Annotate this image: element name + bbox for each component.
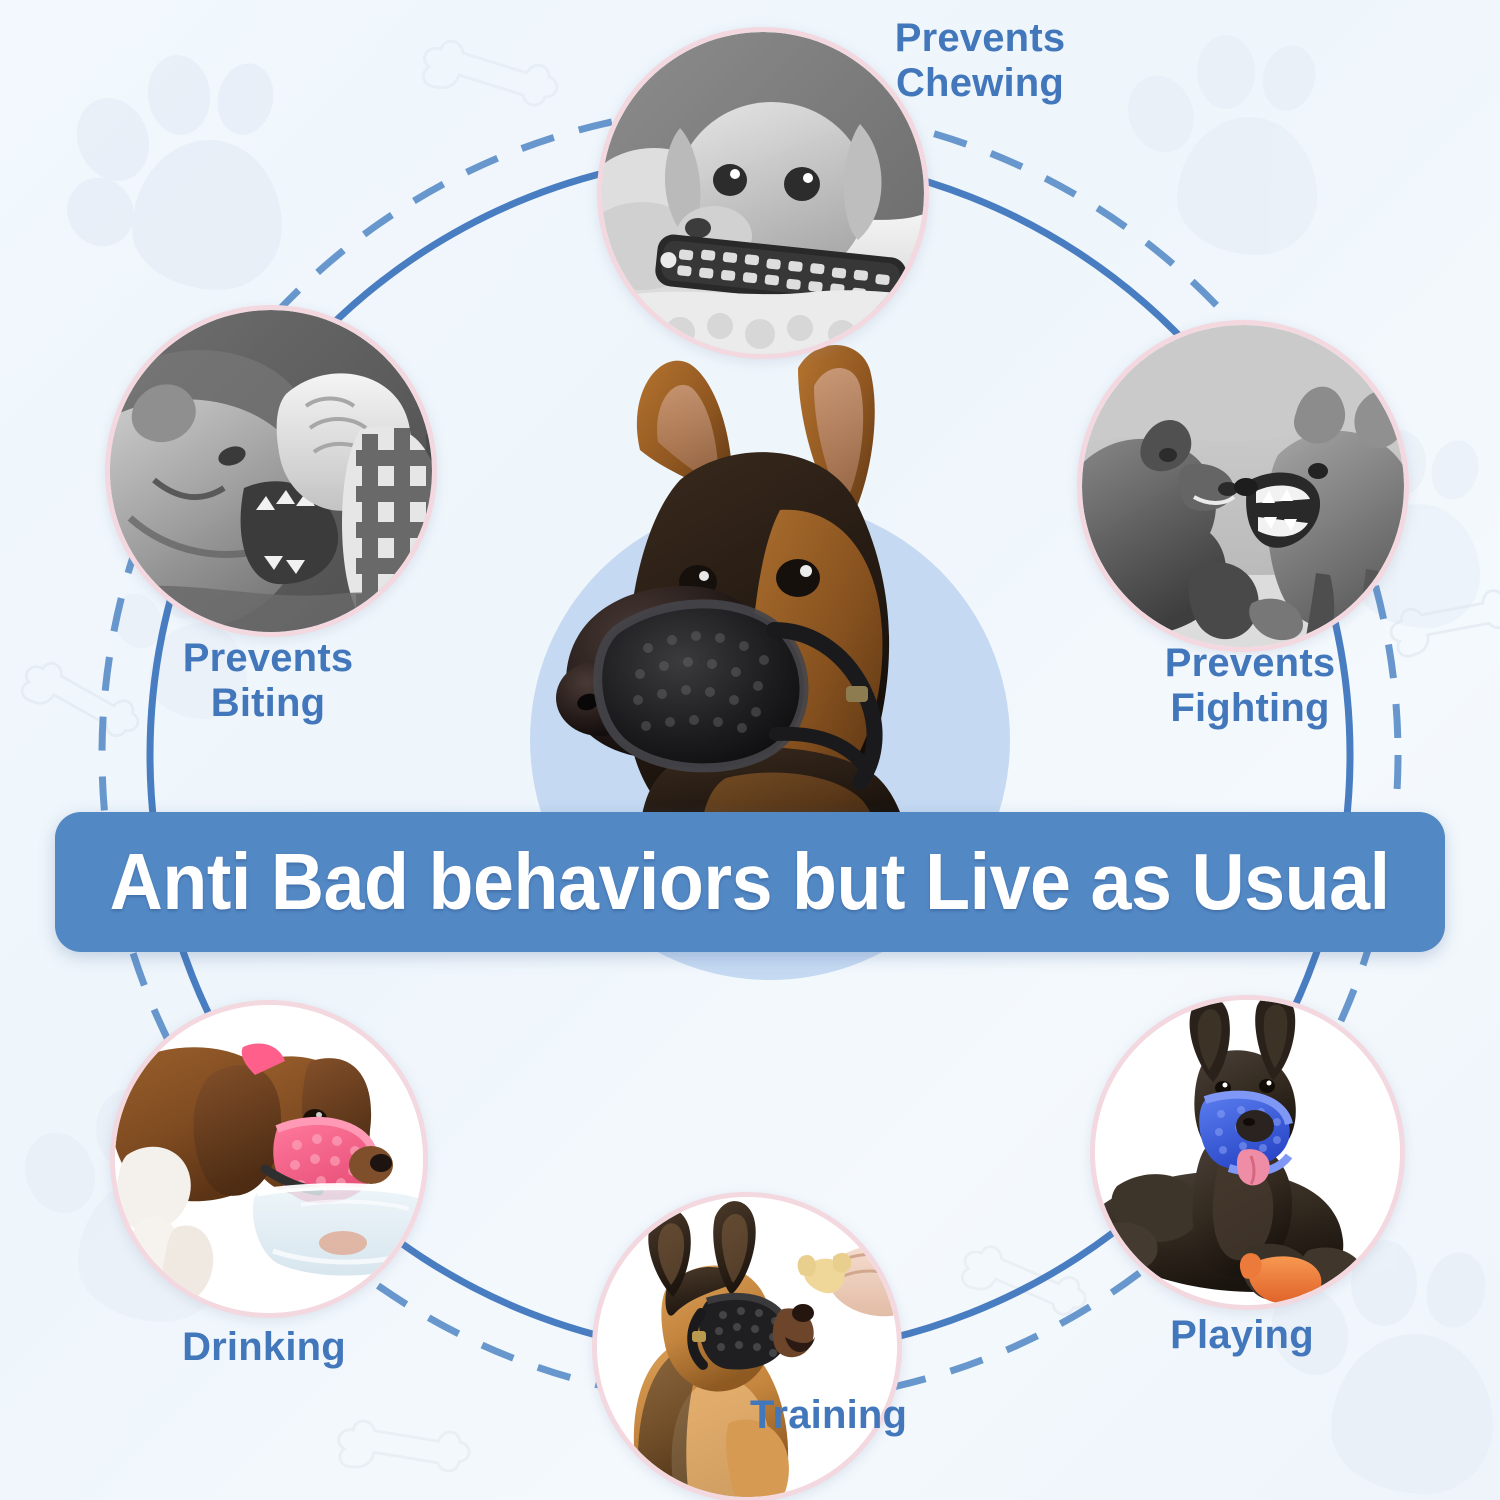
label-prevents-fighting: Prevents Fighting — [1100, 641, 1400, 731]
two-dogs-fighting-photo — [1082, 325, 1404, 647]
feature-circle-training[interactable] — [592, 1192, 902, 1500]
label-playing: Playing — [1092, 1313, 1392, 1358]
label-prevents-biting: Prevents Biting — [118, 636, 418, 726]
headline-banner: Anti Bad behaviors but Live as Usual — [55, 812, 1445, 952]
infographic-canvas: Prevents Chewing — [0, 0, 1500, 1500]
label-prevents-chewing: Prevents Chewing — [830, 16, 1130, 106]
malinois-playing-photo — [1095, 1000, 1400, 1305]
feature-circle-drinking[interactable] — [110, 1000, 428, 1318]
label-drinking: Drinking — [114, 1325, 414, 1370]
beagle-drinking-photo — [115, 1005, 423, 1313]
headline-text: Anti Bad behaviors but Live as Usual — [110, 836, 1390, 928]
feature-circle-playing[interactable] — [1090, 995, 1405, 1310]
german-shepherd-training-photo — [597, 1197, 897, 1497]
hero-dog-photo — [530, 330, 1010, 850]
feature-circle-prevents-biting[interactable] — [105, 305, 437, 637]
dog-biting-hand-photo — [110, 310, 432, 632]
label-training: Training — [750, 1393, 1050, 1438]
feature-circle-prevents-fighting[interactable] — [1077, 320, 1409, 652]
